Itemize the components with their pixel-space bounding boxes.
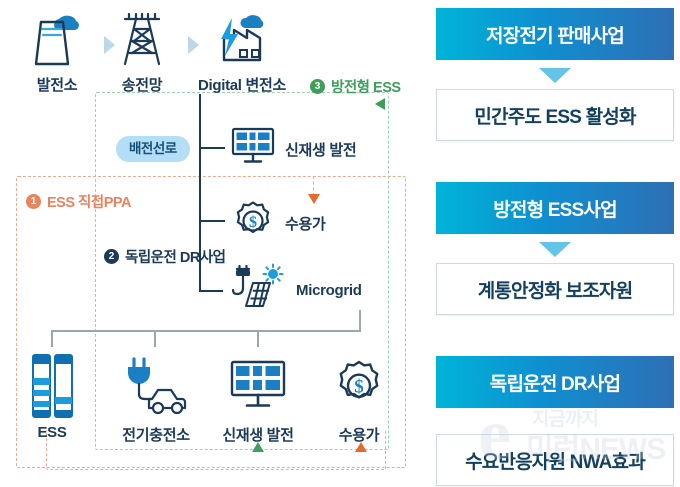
annotation-label: 독립운전 DR사업 xyxy=(125,246,226,267)
node-transmission-tower: 송전망 xyxy=(102,8,182,95)
node-label: Digital 변전소 xyxy=(178,74,306,95)
battery-ess-icon xyxy=(16,350,88,422)
node-digital-substation: Digital 변전소 xyxy=(178,6,306,95)
annotation-ess-ppa: 1 ESS 직접PPA xyxy=(26,191,131,212)
bottom-bus-horizontal xyxy=(51,330,361,332)
node-label: 전기충전소 xyxy=(104,424,208,445)
bottom-bus-drop-renewable xyxy=(257,330,259,347)
node-label: 수용가 xyxy=(285,213,326,234)
right-panel: 저장전기 판매사업 민간주도 ESS 활성화 방전형 ESS사업 계통안정화 보… xyxy=(432,6,680,484)
gear-dollar-icon: $ xyxy=(230,198,276,249)
panel-arrow-icon xyxy=(539,68,571,83)
distribution-line-label: 배전선로 xyxy=(116,136,190,162)
ess-ppa-arrowhead-up-icon xyxy=(355,442,367,452)
annotation-number-badge: 1 xyxy=(26,194,41,209)
left-diagram: 발전소 송전망 xyxy=(0,0,425,487)
svg-text:$: $ xyxy=(354,377,364,398)
panel-result-box[interactable]: 계통안정화 보조자원 xyxy=(436,263,674,315)
diagram-canvas: 발전소 송전망 xyxy=(0,0,680,487)
node-label: 발전소 xyxy=(16,74,98,95)
branch-line-renewable xyxy=(199,147,225,149)
node-power-plant: 발전소 xyxy=(16,8,98,95)
bottom-bus-riser xyxy=(359,310,361,332)
bottom-bus-drop-ev xyxy=(154,330,156,347)
microgrid-solar-icon xyxy=(226,262,288,319)
panel-title-box[interactable]: 저장전기 판매사업 xyxy=(436,8,674,60)
node-label: ESS xyxy=(16,424,88,441)
discharge-ess-arrowhead-icon xyxy=(375,98,385,110)
trunk-elbow-vertical xyxy=(199,252,201,292)
transmission-tower-icon xyxy=(102,8,182,70)
node-renewable-generation-bottom: 신재생 발전 xyxy=(208,350,308,445)
panel-arrow-icon xyxy=(539,242,571,257)
trunk-elbow-horizontal xyxy=(199,290,223,292)
annotation-number-badge: 3 xyxy=(310,79,325,94)
solar-panel-icon xyxy=(230,126,276,173)
gear-dollar-icon: $ xyxy=(316,350,402,422)
panel-result-box[interactable]: 민간주도 ESS 활성화 xyxy=(436,89,674,141)
node-consumer: $ 수용가 xyxy=(230,198,326,249)
panel-title-box[interactable]: 독립운전 DR사업 xyxy=(436,356,674,408)
annotation-label: 방전형 ESS xyxy=(331,76,401,97)
ess-ppa-arrow-to-consumer xyxy=(313,176,315,196)
node-renewable-generation: 신재생 발전 xyxy=(230,126,356,173)
annotation-label: ESS 직접PPA xyxy=(47,191,131,212)
distribution-line-pill: 배전선로 xyxy=(116,137,190,158)
annotation-number-badge: 2 xyxy=(104,249,119,264)
node-ev-charging-station: 전기충전소 xyxy=(104,350,208,445)
node-label: 신재생 발전 xyxy=(285,139,356,160)
node-label: 송전망 xyxy=(102,74,182,95)
discharge-ess-arrowhead-up-icon xyxy=(252,442,264,452)
power-plant-icon xyxy=(16,8,98,70)
bottom-bus-drop-ess xyxy=(51,330,53,347)
node-ess: ESS xyxy=(16,350,88,441)
panel-title-box[interactable]: 방전형 ESS사업 xyxy=(436,182,674,234)
node-label: Microgrid xyxy=(296,282,362,299)
node-consumer-bottom: $ 수용가 xyxy=(316,350,402,445)
branch-line-consumer xyxy=(199,220,225,222)
ev-charger-icon xyxy=(104,350,208,422)
digital-substation-icon xyxy=(178,6,306,70)
node-microgrid: Microgrid xyxy=(226,262,362,319)
solar-panel-icon xyxy=(208,350,308,422)
svg-text:$: $ xyxy=(249,214,257,231)
ess-ppa-arrowhead-icon xyxy=(308,194,320,204)
trunk-line xyxy=(199,94,201,252)
annotation-dr-business: 2 독립운전 DR사업 xyxy=(104,246,226,267)
annotation-discharge-ess: 3 방전형 ESS xyxy=(310,76,401,97)
panel-result-box[interactable]: 수요반응자원 NWA효과 xyxy=(436,434,674,486)
